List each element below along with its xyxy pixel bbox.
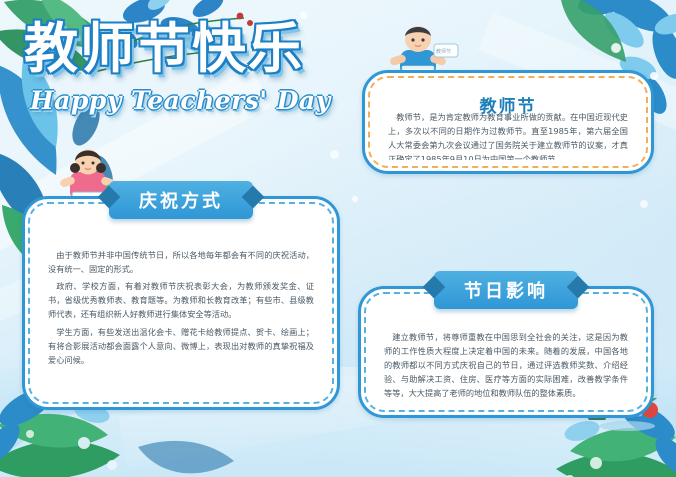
paragraph: 政府、学校方面，有着对教师节庆祝表彰大会，为教师颁发奖金、证书，省级优秀教师表、… [48, 279, 314, 321]
card-text: 由于教师节并非中国传统节日，所以各地每年都会有不同的庆祝活动，没有统一、固定的形… [36, 244, 326, 367]
card-body: 教师节 教师节，是为肯定教师为教育事业所做的贡献。在中国近现代史上，多次以不同的… [376, 84, 640, 160]
card-text: 教师节，是为肯定教师为教育事业所做的贡献。在中国近现代史上，多次以不同的日期作为… [376, 110, 640, 160]
svg-text:教师节: 教师节 [436, 48, 451, 55]
card-teachers-day: 教师节 教师节，是为肯定教师为教育事业所做的贡献。在中国近现代史上，多次以不同的… [362, 70, 654, 174]
card-heading: 教师节 [376, 92, 640, 117]
card-holiday-impact: 建立教师节，将尊师重教在中国思到全社会的关注，这是因为教师的工作性质大程度上决定… [358, 286, 654, 418]
page-subtitle: Happy Teachers' Day [30, 86, 354, 115]
card-text: 建立教师节，将尊师重教在中国思到全社会的关注，这是因为教师的工作性质大程度上决定… [372, 326, 640, 401]
decorative-dot [352, 196, 358, 202]
card-body: 由于教师节并非中国传统节日，所以各地每年都会有不同的庆祝活动，没有统一、固定的形… [36, 210, 326, 396]
card-celebration-ways: 由于教师节并非中国传统节日，所以各地每年都会有不同的庆祝活动，没有统一、固定的形… [22, 196, 340, 410]
paragraph: 建立教师节，将尊师重教在中国思到全社会的关注，这是因为教师的工作性质大程度上决定… [384, 330, 628, 401]
page-title: 教师节快乐 [24, 22, 354, 76]
paragraph: 教师节，是为肯定教师为教育事业所做的贡献。在中国近现代史上，多次以不同的日期作为… [388, 110, 628, 160]
paragraph: 学生方面，有些发送出温化会卡、赠花卡给教师提点、贺卡、绘画上；有将合影展活动都会… [48, 325, 314, 367]
poster-canvas: 教师节快乐 Happy Teachers' Day 教师节 [0, 0, 676, 477]
card-body: 建立教师节，将尊师重教在中国思到全社会的关注，这是因为教师的工作性质大程度上决定… [372, 300, 640, 404]
card-heading: 庆祝方式 [109, 181, 253, 219]
decorative-dot [26, 430, 34, 438]
decorative-dot [330, 150, 339, 159]
paragraph: 由于教师节并非中国传统节日，所以各地每年都会有不同的庆祝活动，没有统一、固定的形… [48, 248, 314, 276]
poster-title-block: 教师节快乐 Happy Teachers' Day [24, 22, 354, 140]
decorative-dot [640, 200, 648, 208]
card-heading: 节日影响 [434, 271, 578, 309]
